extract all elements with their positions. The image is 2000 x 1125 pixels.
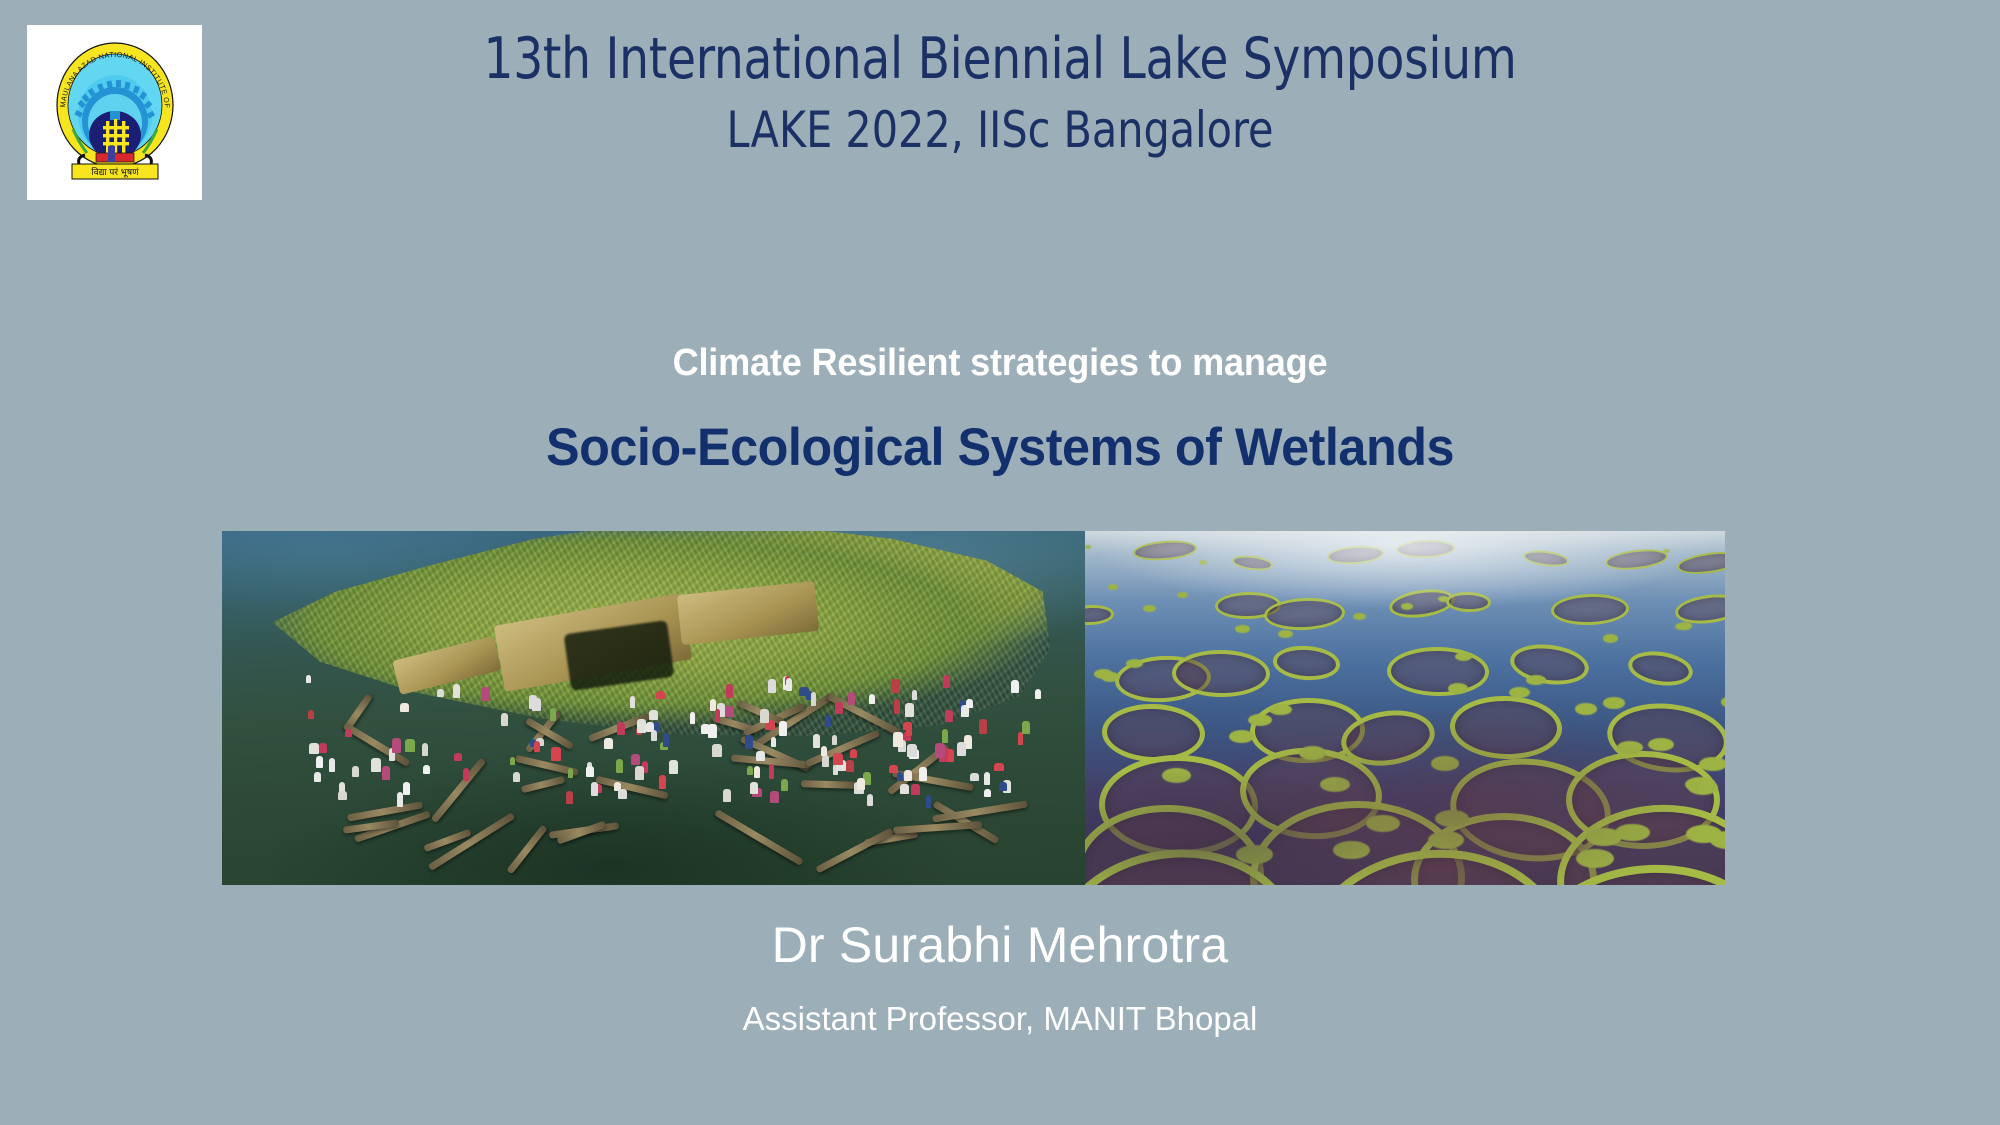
person: [966, 699, 973, 708]
photo-phumdi-rings: [1085, 531, 1725, 885]
person: [663, 733, 669, 747]
person: [392, 738, 401, 753]
person: [308, 710, 314, 719]
person: [869, 694, 875, 705]
boat: [893, 821, 983, 834]
person: [747, 766, 753, 774]
person: [994, 763, 1004, 771]
person: [551, 747, 561, 761]
person: [723, 789, 731, 802]
person: [745, 735, 753, 749]
person: [1018, 732, 1023, 744]
person: [338, 791, 348, 800]
person: [867, 794, 874, 806]
person: [306, 675, 311, 683]
person: [550, 708, 556, 721]
person: [811, 692, 817, 706]
person: [726, 684, 733, 698]
person: [656, 691, 665, 699]
person: [481, 687, 490, 701]
person: [771, 737, 776, 748]
crowd-of-people: [291, 673, 1050, 800]
person: [756, 751, 766, 761]
person: [637, 719, 646, 734]
person: [760, 709, 769, 723]
person: [999, 782, 1007, 791]
photo-strip: [222, 531, 1725, 885]
person: [984, 789, 991, 797]
person: [912, 690, 917, 701]
person: [935, 743, 945, 758]
person: [454, 753, 462, 761]
conference-header: 13th International Biennial Lake Symposi…: [260, 28, 1740, 160]
presenter-role: Assistant Professor, MANIT Bhopal: [0, 999, 2000, 1039]
manit-logo: MAULANA AZAD NATIONAL INSTITUTE OF TECHN…: [27, 25, 202, 200]
person: [397, 792, 403, 807]
person: [437, 689, 445, 697]
presenter-name: Dr Surabhi Mehrotra: [0, 915, 2000, 975]
person: [510, 757, 515, 765]
presentation-slide: MAULANA AZAD NATIONAL INSTITUTE OF TECHN…: [0, 0, 2000, 1125]
person: [649, 710, 658, 720]
person: [423, 765, 430, 774]
person: [911, 784, 920, 795]
page-title: Socio-Ecological Systems of Wetlands: [50, 416, 1950, 480]
boat: [714, 809, 804, 866]
conference-title-line1: 13th International Biennial Lake Symposi…: [319, 28, 1681, 92]
person: [329, 758, 335, 772]
phumdi-haze: [1085, 531, 1725, 885]
person: [646, 722, 654, 732]
person: [825, 715, 831, 727]
person: [463, 768, 469, 781]
person: [316, 756, 323, 768]
person: [710, 699, 716, 711]
title-subtitle: Climate Resilient strategies to manage: [50, 340, 1950, 388]
person: [799, 687, 809, 696]
presenter-block: Dr Surabhi Mehrotra Assistant Professor,…: [0, 915, 2000, 1039]
person: [1022, 721, 1031, 735]
person: [403, 782, 410, 794]
person: [891, 679, 900, 694]
person: [566, 791, 573, 804]
person: [894, 699, 900, 713]
person: [659, 775, 666, 789]
person: [314, 772, 321, 783]
person: [400, 703, 409, 712]
person: [669, 760, 678, 774]
person: [984, 772, 990, 785]
person: [970, 773, 978, 781]
person: [701, 724, 711, 734]
person: [850, 749, 857, 758]
person: [769, 764, 774, 779]
person: [904, 770, 912, 781]
logo-motto: विद्या परं भूषणं: [91, 166, 139, 178]
manit-emblem-icon: MAULANA AZAD NATIONAL INSTITUTE OF TECHN…: [35, 33, 195, 193]
person: [832, 735, 837, 745]
person: [957, 742, 966, 757]
person: [768, 679, 777, 692]
person: [846, 760, 854, 772]
person: [893, 732, 903, 747]
person: [905, 703, 914, 717]
person: [750, 782, 759, 793]
person: [942, 729, 948, 744]
person: [945, 710, 954, 722]
person: [715, 709, 721, 722]
person: [617, 722, 625, 735]
person: [532, 698, 541, 710]
person: [591, 782, 598, 797]
person: [690, 712, 695, 724]
boat: [815, 828, 894, 874]
person: [833, 753, 843, 766]
person: [405, 739, 415, 752]
person: [919, 767, 927, 781]
person: [635, 766, 644, 779]
person: [568, 768, 573, 778]
person: [857, 778, 865, 789]
person: [319, 743, 328, 753]
person: [586, 766, 595, 776]
person: [631, 754, 640, 765]
conference-title-line2: LAKE 2022, IISc Bangalore: [319, 100, 1681, 160]
boat: [506, 825, 547, 875]
person: [821, 746, 827, 756]
person: [754, 766, 760, 778]
person: [382, 766, 391, 779]
person: [513, 772, 520, 782]
photo-floating-village: [222, 531, 1085, 885]
person: [813, 734, 820, 748]
person: [1011, 680, 1020, 692]
person: [903, 722, 913, 731]
person: [926, 795, 932, 808]
person: [848, 692, 855, 705]
person: [453, 684, 460, 697]
person: [618, 789, 628, 799]
person: [371, 758, 381, 771]
person: [979, 719, 987, 734]
person: [835, 702, 843, 714]
person: [630, 696, 635, 708]
person: [1035, 689, 1041, 699]
person: [352, 766, 359, 776]
slide-title-block: Climate Resilient strategies to manage S…: [0, 340, 2000, 479]
person: [345, 729, 352, 738]
person: [501, 713, 508, 726]
person: [822, 755, 830, 767]
person: [781, 779, 788, 791]
person: [943, 675, 951, 688]
person: [604, 738, 612, 749]
person: [779, 721, 786, 736]
person: [770, 791, 780, 804]
person: [786, 678, 792, 691]
person: [534, 741, 540, 753]
person: [616, 759, 623, 773]
person: [889, 765, 898, 773]
person: [897, 772, 903, 780]
person: [725, 706, 735, 716]
person: [900, 784, 909, 793]
person: [712, 744, 721, 757]
person: [422, 743, 428, 755]
person: [309, 743, 319, 754]
person: [907, 744, 916, 757]
